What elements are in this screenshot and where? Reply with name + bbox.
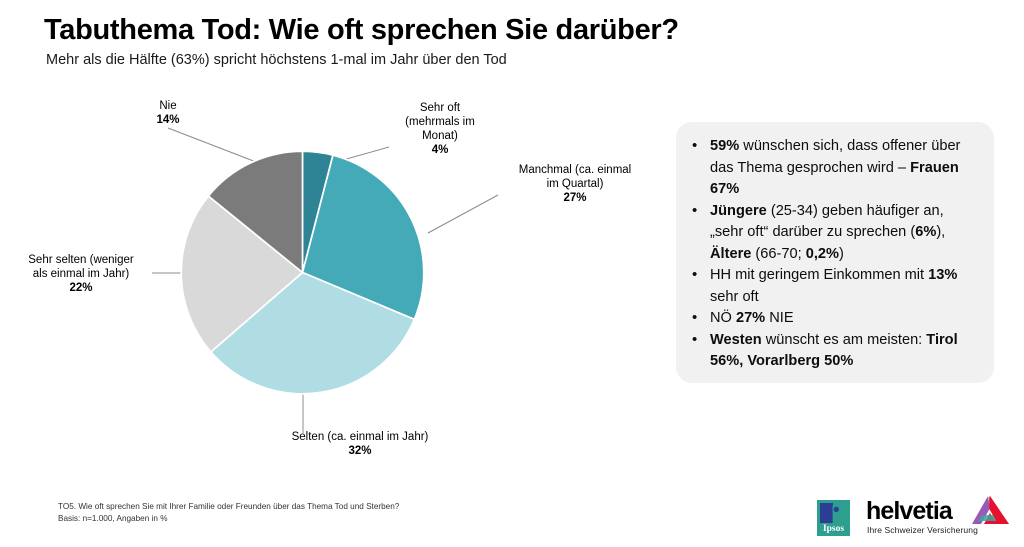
helvetia-logo: helvetia Ihre Schweizer Versicherung: [866, 495, 1011, 539]
pie-label-selten-value: 32%: [250, 444, 470, 458]
insight-text: ),: [936, 224, 945, 240]
page-subtitle: Mehr als die Hälfte (63%) spricht höchst…: [46, 52, 507, 68]
insight-highlight: 6%: [915, 224, 936, 240]
insight-bullet: Westen wünscht es am meisten: Tirol 56%,…: [708, 330, 978, 373]
insight-text: HH mit geringem Einkommen mit: [710, 267, 928, 283]
helvetia-logo-tagline: Ihre Schweizer Versicherung: [867, 525, 978, 535]
insight-bullet: NÖ 27% NIE: [708, 308, 978, 330]
insight-text: sehr oft: [710, 289, 759, 305]
pie-label-sehr-selten: Sehr selten (weniger als einmal im Jahr)…: [6, 253, 156, 295]
pie-chart: Nie 14% Sehr oft (mehrmals im Monat) 4% …: [0, 85, 660, 485]
insight-highlight: 13%: [928, 267, 957, 283]
ipsos-logo: Ipsos: [817, 500, 850, 536]
insights-bullet-list: 59% wünschen sich, dass offener über das…: [686, 136, 978, 373]
leader-line-manchmal: [428, 195, 498, 233]
insight-highlight: Ältere: [710, 246, 751, 262]
insights-panel: 59% wünschen sich, dass offener über das…: [676, 122, 994, 383]
pie-label-sehr-oft: Sehr oft (mehrmals im Monat) 4%: [385, 101, 495, 157]
insight-highlight: Jüngere: [710, 203, 767, 219]
pie-slices: [180, 150, 425, 395]
pie-label-sehr-oft-text-2: (mehrmals im: [385, 115, 495, 129]
insight-highlight: 0,2%: [806, 246, 839, 262]
helvetia-logo-wordmark: helvetia: [866, 497, 952, 526]
ipsos-logo-text: Ipsos: [823, 524, 844, 534]
footnote-basis: Basis: n=1.000, Angaben in %: [58, 513, 399, 525]
pie-label-sehr-selten-text-1: Sehr selten (weniger: [6, 253, 156, 267]
pie-label-selten-text: Selten (ca. einmal im Jahr): [250, 430, 470, 444]
page-title: Tabuthema Tod: Wie oft sprechen Sie darü…: [44, 14, 679, 47]
insight-text: NÖ: [710, 310, 736, 326]
insight-text: ): [839, 246, 844, 262]
pie-label-nie-value: 14%: [128, 113, 208, 127]
pie-label-selten: Selten (ca. einmal im Jahr) 32%: [250, 430, 470, 458]
footnote-question: TO5. Wie oft sprechen Sie mit Ihrer Fami…: [58, 501, 399, 513]
pie-label-manchmal-value: 27%: [500, 191, 650, 205]
insight-text: wünscht es am meisten:: [762, 332, 927, 348]
insight-bullet: 59% wünschen sich, dass offener über das…: [708, 136, 978, 201]
pie-label-sehr-selten-text-2: als einmal im Jahr): [6, 267, 156, 281]
insight-text: NIE: [765, 310, 793, 326]
helvetia-triangle-icon: [970, 495, 1011, 525]
pie-label-manchmal-text-1: Manchmal (ca. einmal: [500, 163, 650, 177]
insight-bullet: HH mit geringem Einkommen mit 13% sehr o…: [708, 265, 978, 308]
pie-graphic: [180, 150, 425, 395]
pie-label-manchmal-text-2: im Quartal): [500, 177, 650, 191]
footnote: TO5. Wie oft sprechen Sie mit Ihrer Fami…: [58, 501, 399, 524]
pie-label-nie-text: Nie: [128, 99, 208, 113]
pie-label-sehr-selten-value: 22%: [6, 281, 156, 295]
pie-label-sehr-oft-value: 4%: [385, 143, 495, 157]
pie-label-manchmal: Manchmal (ca. einmal im Quartal) 27%: [500, 163, 650, 205]
pie-label-nie: Nie 14%: [128, 99, 208, 127]
insight-highlight: 59%: [710, 138, 739, 154]
insight-bullet: Jüngere (25-34) geben häufiger an, „sehr…: [708, 201, 978, 266]
pie-label-sehr-oft-text-3: Monat): [385, 129, 495, 143]
ipsos-logo-mark: Ipsos: [817, 500, 850, 536]
insight-text: (66-70;: [751, 246, 805, 262]
pie-label-sehr-oft-text-1: Sehr oft: [385, 101, 495, 115]
insight-highlight: Westen: [710, 332, 762, 348]
insight-highlight: 27%: [736, 310, 765, 326]
